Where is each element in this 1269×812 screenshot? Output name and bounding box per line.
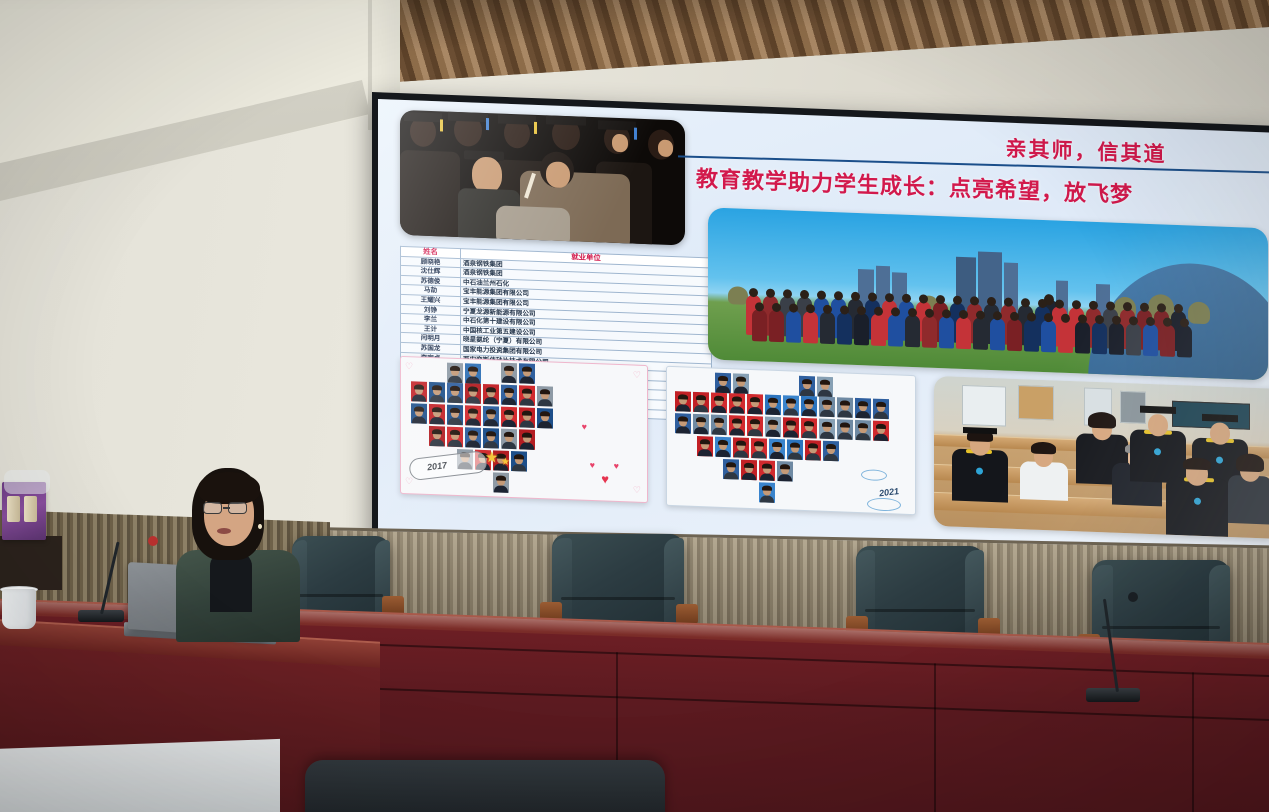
group-photo-head	[834, 291, 843, 300]
star-icon: ★	[485, 448, 498, 467]
id-portrait	[747, 416, 763, 437]
heart-icon-filled: ♥	[590, 460, 595, 470]
id-portrait	[783, 417, 799, 438]
group-photo-person	[1041, 320, 1056, 353]
group-photo-head	[1095, 315, 1104, 324]
id-portrait	[429, 382, 445, 403]
foreground-chair-back	[305, 760, 665, 812]
group-photo-head	[1055, 299, 1064, 308]
id-portrait	[501, 407, 517, 428]
group-photo-head	[1163, 317, 1172, 326]
group-photo-head	[1123, 302, 1132, 311]
group-photo-head	[1140, 303, 1149, 312]
id-portrait	[733, 437, 749, 458]
id-portrait	[537, 408, 553, 429]
group-photo-person	[854, 313, 869, 346]
id-portrait	[429, 426, 445, 447]
heart-icon: ♡	[633, 485, 641, 496]
group-photo-head	[1021, 298, 1030, 307]
ribbon-banner-2017	[408, 450, 488, 481]
id-portrait	[805, 440, 821, 461]
white-paper-cup[interactable]	[2, 589, 36, 629]
group-photo-person	[1075, 321, 1090, 354]
id-portrait	[693, 414, 709, 435]
heart-icon: ♡	[405, 361, 413, 372]
id-portrait	[819, 419, 835, 440]
heart-icon-filled: ♥	[601, 471, 609, 486]
id-portrait	[769, 439, 785, 460]
cloud-decoration	[867, 497, 901, 511]
group-photo-head	[1174, 304, 1183, 313]
group-photo-head	[766, 289, 775, 298]
id-portrait	[873, 421, 889, 442]
group-photo-head	[840, 305, 849, 314]
id-portrait	[465, 383, 481, 404]
id-portrait	[519, 385, 535, 406]
id-portrait	[873, 399, 889, 420]
id-portrait	[483, 384, 499, 405]
group-photo-head	[1129, 316, 1138, 325]
foreground-table-edge	[0, 739, 280, 812]
glasses-bridge	[223, 507, 230, 509]
id-portrait	[483, 406, 499, 427]
presenter-mouth	[217, 528, 231, 534]
heart-icon-filled: ♥	[582, 422, 587, 432]
group-photo-head	[857, 306, 866, 315]
id-portrait	[765, 395, 781, 416]
id-portrait	[519, 363, 535, 384]
id-portrait	[819, 397, 835, 418]
group-photo-person	[752, 309, 767, 342]
group-photo-head	[902, 294, 911, 303]
class-field-group-photo	[708, 207, 1268, 380]
group-photo-person	[769, 310, 784, 343]
id-portrait	[447, 427, 463, 448]
group-photo-head	[1061, 314, 1070, 323]
id-portrait	[765, 417, 781, 438]
group-photo-head	[1072, 300, 1081, 309]
id-portrait	[801, 418, 817, 439]
group-photo-head	[868, 292, 877, 301]
id-portrait	[447, 405, 463, 426]
id-portrait	[711, 415, 727, 436]
id-portrait	[711, 393, 727, 414]
id-portrait	[519, 407, 535, 428]
group-photo-head	[772, 303, 781, 312]
group-photo-person	[905, 315, 920, 348]
id-portrait	[511, 451, 527, 472]
group-photo-person	[1143, 324, 1158, 357]
group-photo-head	[789, 303, 798, 312]
group-photo-head	[936, 295, 945, 304]
seated-presenter	[170, 466, 305, 641]
group-photo-head	[755, 302, 764, 311]
group-photo-person	[803, 311, 818, 344]
group-photo-head	[874, 307, 883, 316]
group-photo-head	[942, 309, 951, 318]
group-photo-head	[1089, 301, 1098, 310]
cloud-decoration	[861, 469, 887, 481]
id-portrait	[723, 459, 739, 480]
lecture-hall-scene: 亲其师，信其道 教育教学助力学生成长：点亮希望，放飞梦 姓名 就业单位 顾晓艳酒…	[0, 0, 1269, 812]
group-photo-head	[908, 308, 917, 317]
group-photo-person	[837, 312, 852, 345]
id-portrait	[759, 460, 775, 481]
id-portrait	[465, 363, 481, 384]
group-photo-head	[993, 311, 1002, 320]
group-photo-head	[959, 310, 968, 319]
group-photo-person	[888, 314, 903, 347]
group-photo-head	[817, 290, 826, 299]
earring	[258, 524, 262, 529]
id-portrait	[751, 438, 767, 459]
id-portrait	[447, 363, 463, 384]
glasses-icon	[203, 502, 222, 514]
group-photo-head	[783, 289, 792, 298]
id-portrait	[693, 392, 709, 413]
group-photo-person	[1058, 321, 1073, 354]
portrait-grid-2021: 2021	[666, 366, 916, 515]
heart-icon-filled: ♥	[614, 461, 619, 471]
id-portrait	[741, 460, 757, 481]
presenter-fringe	[198, 472, 260, 504]
id-portrait	[837, 397, 853, 418]
group-photo-head	[1038, 299, 1047, 308]
id-portrait	[411, 403, 427, 424]
group-photo-person	[990, 318, 1005, 351]
group-photo-person	[1007, 319, 1022, 352]
id-portrait	[429, 404, 445, 425]
id-portrait	[837, 419, 853, 440]
id-portrait	[697, 436, 713, 457]
id-portrait	[483, 428, 499, 449]
group-photo-head	[1106, 301, 1115, 310]
group-photo-person	[922, 315, 937, 348]
heart-icon: ♡	[633, 370, 641, 381]
id-portrait	[855, 420, 871, 441]
id-portrait	[817, 376, 833, 397]
id-portrait	[675, 413, 691, 434]
group-photo-head	[1146, 317, 1155, 326]
group-photo-head	[1004, 298, 1013, 307]
id-portrait	[465, 427, 481, 448]
group-photo-person	[1024, 319, 1039, 352]
group-photo-head	[987, 297, 996, 306]
id-portrait	[747, 394, 763, 415]
group-photo-head	[1157, 303, 1166, 312]
presenter-inner-top	[210, 552, 252, 612]
id-portrait	[537, 386, 553, 407]
group-photo-head	[976, 310, 985, 319]
id-portrait	[465, 405, 481, 426]
classroom-graduation-photo	[934, 376, 1269, 539]
group-photo-head	[806, 304, 815, 313]
portrait-grid-2017: 2017 ★ ★ ♡ ♡ ♡ ♡ ♥ ♥ ♥ ♥	[400, 356, 648, 503]
id-portrait	[783, 395, 799, 416]
id-portrait	[729, 393, 745, 414]
led-screen[interactable]: 亲其师，信其道 教育教学助力学生成长：点亮希望，放飞梦 姓名 就业单位 顾晓艳酒…	[378, 99, 1269, 579]
group-photo-person	[1177, 325, 1192, 358]
group-photo-head	[885, 293, 894, 302]
id-portrait	[501, 385, 517, 406]
presentation-slide: 亲其师，信其道 教育教学助力学生成长：点亮希望，放飞梦 姓名 就业单位 顾晓艳酒…	[378, 99, 1269, 579]
id-portrait	[501, 363, 517, 384]
group-photo-person	[1160, 324, 1175, 357]
id-portrait	[519, 429, 535, 450]
graduation-cap-ceremony-photo	[400, 110, 685, 246]
group-photo-head	[1044, 313, 1053, 322]
group-photo-head	[1180, 318, 1189, 327]
group-photo-head	[1078, 314, 1087, 323]
group-photo-head	[1112, 316, 1121, 325]
group-photo-head	[851, 292, 860, 301]
id-portrait	[715, 373, 731, 394]
group-photo-head	[1010, 312, 1019, 321]
chair-armrest	[676, 604, 698, 624]
id-portrait	[759, 482, 775, 503]
id-portrait	[501, 429, 517, 450]
group-photo-head	[891, 307, 900, 316]
group-photo-person	[786, 310, 801, 343]
id-portrait	[787, 439, 803, 460]
id-portrait	[733, 373, 749, 394]
group-photo-head	[953, 296, 962, 305]
group-photo-person	[939, 316, 954, 349]
id-portrait	[729, 415, 745, 436]
id-portrait	[715, 437, 731, 458]
group-photo-head	[925, 309, 934, 318]
id-portrait	[777, 461, 793, 482]
plastic-wrap	[4, 470, 50, 494]
group-photo-head	[749, 288, 758, 297]
group-photo-head	[970, 296, 979, 305]
glasses-icon	[228, 502, 247, 514]
group-photo-head	[919, 294, 928, 303]
group-photo-head	[800, 290, 809, 299]
group-photo-head	[823, 305, 832, 314]
id-portrait	[411, 381, 427, 402]
id-portrait	[675, 391, 691, 412]
heart-icon: ♡	[405, 476, 413, 487]
id-portrait	[447, 383, 463, 404]
dark-box	[0, 536, 62, 590]
group-photo-person	[956, 317, 971, 350]
id-portrait	[823, 441, 839, 462]
group-photo-person	[973, 317, 988, 350]
id-portrait	[799, 376, 815, 397]
group-photo-person	[820, 312, 835, 345]
star-icon-small: ★	[501, 457, 510, 468]
group-photo-person	[871, 314, 886, 347]
group-photo-person	[1126, 323, 1141, 356]
group-photo-person	[1092, 322, 1107, 355]
group-photo-head	[1027, 312, 1036, 321]
id-portrait	[801, 396, 817, 417]
year-label-2021: 2021	[878, 486, 899, 498]
id-portrait	[493, 472, 509, 493]
group-photo-person	[1109, 322, 1124, 355]
id-portrait	[855, 398, 871, 419]
